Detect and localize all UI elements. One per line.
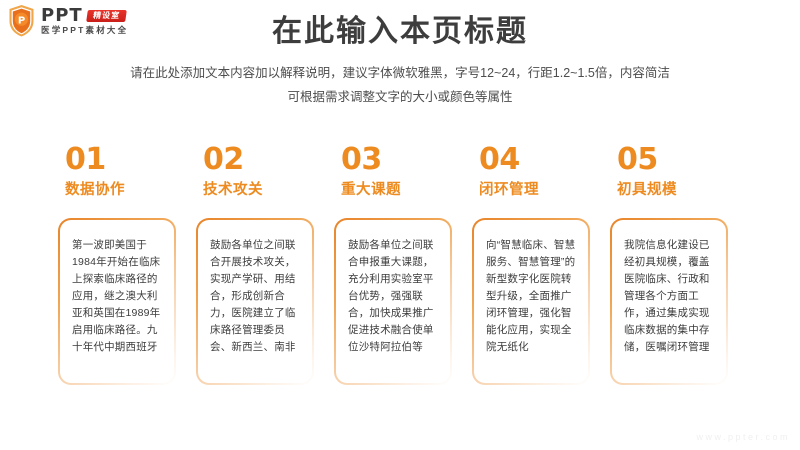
content-card[interactable]: 第一波即美国于1984年开始在临床上探索临床路径的应用，继之澳大利亚和英国在19… <box>58 218 176 385</box>
content-card[interactable]: 鼓励各单位之间联合申报重大课题，充分利用实验室平台优势，强强联合，加快成果推广促… <box>334 218 452 385</box>
column-05: 05 初具规模 我院信息化建设已经初具规模，覆盖医院临床、行政和管理各个方面工作… <box>608 145 746 385</box>
column-heading: 技术攻关 <box>203 183 263 198</box>
content-card-text: 第一波即美国于1984年开始在临床上探索临床路径的应用，继之澳大利亚和英国在19… <box>60 220 174 383</box>
subtitle-line-1: 请在此处添加文本内容加以解释说明，建议字体微软雅黑，字号12~24，行距1.2~… <box>0 62 800 86</box>
content-card-text: 鼓励各单位之间联合开展技术攻关，实现产学研、用结合，形成创新合力，医院建立了临床… <box>198 220 312 383</box>
column-number: 01 <box>65 145 106 175</box>
content-card-text: 鼓励各单位之间联合申报重大课题，充分利用实验室平台优势，强强联合，加快成果推广促… <box>336 220 450 383</box>
page-title: 在此输入本页标题 <box>0 14 800 50</box>
page-subtitle: 请在此处添加文本内容加以解释说明，建议字体微软雅黑，字号12~24，行距1.2~… <box>0 62 800 110</box>
column-number: 03 <box>341 145 382 175</box>
content-card-text: 我院信息化建设已经初具规模，覆盖医院临床、行政和管理各个方面工作，通过集成实现临… <box>612 220 726 383</box>
content-card[interactable]: 鼓励各单位之间联合开展技术攻关，实现产学研、用结合，形成创新合力，医院建立了临床… <box>196 218 314 385</box>
column-number: 05 <box>617 145 658 175</box>
column-heading: 重大课题 <box>341 183 401 198</box>
column-number: 02 <box>203 145 244 175</box>
content-card[interactable]: 向“智慧临床、智慧服务、智慧管理”的新型数字化医院转型升级，全面推广闭环管理，强… <box>472 218 590 385</box>
content-card[interactable]: 我院信息化建设已经初具规模，覆盖医院临床、行政和管理各个方面工作，通过集成实现临… <box>610 218 728 385</box>
column-number: 04 <box>479 145 520 175</box>
column-heading: 闭环管理 <box>479 183 539 198</box>
column-01: 01 数据协作 第一波即美国于1984年开始在临床上探索临床路径的应用，继之澳大… <box>56 145 194 385</box>
subtitle-line-2: 可根据需求调整文字的大小或颜色等属性 <box>0 86 800 110</box>
site-watermark: www.ppter.com <box>696 432 790 442</box>
column-heading: 数据协作 <box>65 183 125 198</box>
column-04: 04 闭环管理 向“智慧临床、智慧服务、智慧管理”的新型数字化医院转型升级，全面… <box>470 145 608 385</box>
content-columns: 01 数据协作 第一波即美国于1984年开始在临床上探索临床路径的应用，继之澳大… <box>56 145 746 385</box>
column-02: 02 技术攻关 鼓励各单位之间联合开展技术攻关，实现产学研、用结合，形成创新合力… <box>194 145 332 385</box>
column-heading: 初具规模 <box>617 183 677 198</box>
column-03: 03 重大课题 鼓励各单位之间联合申报重大课题，充分利用实验室平台优势，强强联合… <box>332 145 470 385</box>
content-card-text: 向“智慧临床、智慧服务、智慧管理”的新型数字化医院转型升级，全面推广闭环管理，强… <box>474 220 588 383</box>
